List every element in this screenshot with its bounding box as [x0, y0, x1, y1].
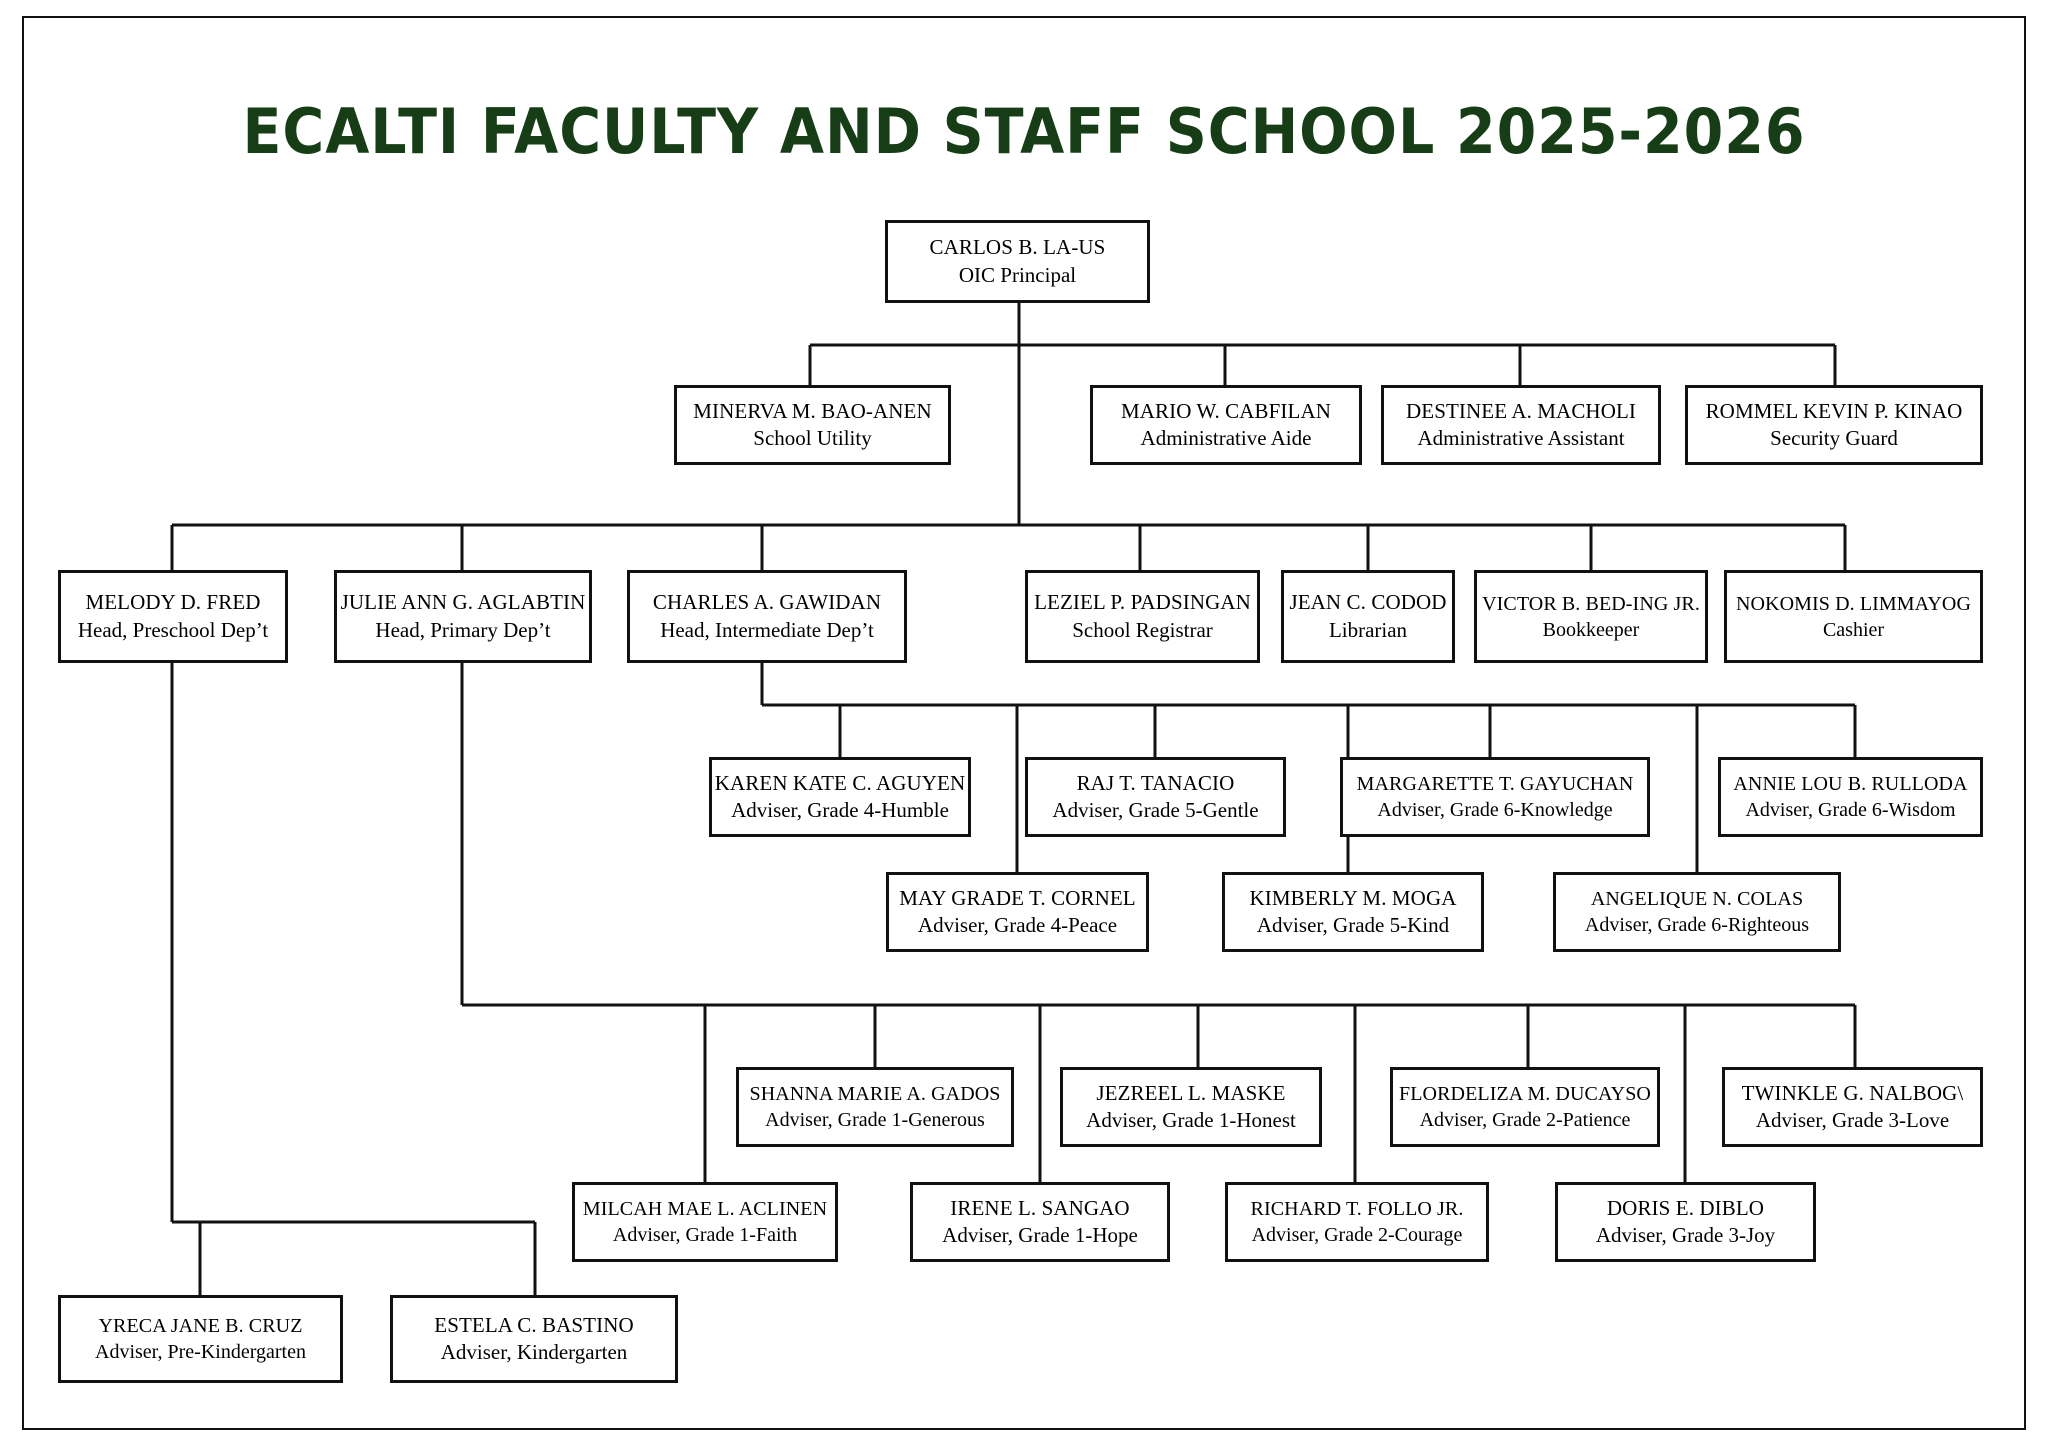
node-name: MARGARETTE T. GAYUCHAN	[1357, 771, 1634, 797]
node-title: Adviser, Grade 6-Wisdom	[1745, 797, 1955, 823]
node-name: VICTOR B. BED-ING JR.	[1482, 591, 1700, 617]
node-title: Adviser, Kindergarten	[441, 1339, 628, 1366]
node-adviser-grade4-humble[interactable]: KAREN KATE C. AGUYEN Adviser, Grade 4-Hu…	[709, 757, 971, 837]
node-title: Adviser, Grade 5-Kind	[1257, 912, 1449, 939]
node-title: OIC Principal	[959, 262, 1076, 289]
node-bookkeeper[interactable]: VICTOR B. BED-ING JR. Bookkeeper	[1474, 570, 1708, 663]
node-adviser-grade2-patience[interactable]: FLORDELIZA M. DUCAYSO Adviser, Grade 2-P…	[1390, 1067, 1660, 1147]
node-name: CARLOS B. LA-US	[930, 234, 1106, 261]
node-name: CHARLES A. GAWIDAN	[653, 589, 881, 616]
node-adviser-grade2-courage[interactable]: RICHARD T. FOLLO JR. Adviser, Grade 2-Co…	[1225, 1182, 1489, 1262]
node-title: Adviser, Grade 6-Righteous	[1585, 912, 1809, 938]
node-title: Bookkeeper	[1543, 617, 1640, 643]
node-security-guard[interactable]: ROMMEL KEVIN P. KINAO Security Guard	[1685, 385, 1983, 465]
node-title: School Utility	[753, 425, 871, 452]
node-adviser-grade1-faith[interactable]: MILCAH MAE L. ACLINEN Adviser, Grade 1-F…	[572, 1182, 838, 1262]
node-adviser-grade5-kind[interactable]: KIMBERLY M. MOGA Adviser, Grade 5-Kind	[1222, 872, 1484, 952]
node-head-intermediate[interactable]: CHARLES A. GAWIDAN Head, Intermediate De…	[627, 570, 907, 663]
node-adviser-grade1-generous[interactable]: SHANNA MARIE A. GADOS Adviser, Grade 1-G…	[736, 1067, 1014, 1147]
node-adviser-kindergarten[interactable]: ESTELA C. BASTINO Adviser, Kindergarten	[390, 1295, 678, 1383]
org-chart-page: ECALTI FACULTY AND STAFF SCHOOL 2025-202…	[0, 0, 2048, 1448]
node-title: Adviser, Pre-Kindergarten	[95, 1339, 306, 1365]
node-title: Adviser, Grade 1-Honest	[1086, 1107, 1296, 1134]
node-name: YRECA JANE B. CRUZ	[98, 1313, 302, 1339]
node-cashier[interactable]: NOKOMIS D. LIMMAYOG Cashier	[1724, 570, 1983, 663]
node-school-utility[interactable]: MINERVA M. BAO-ANEN School Utility	[674, 385, 951, 465]
node-name: JEAN C. CODOD	[1289, 589, 1446, 616]
node-adviser-grade3-joy[interactable]: DORIS E. DIBLO Adviser, Grade 3-Joy	[1555, 1182, 1816, 1262]
node-adviser-grade1-hope[interactable]: IRENE L. SANGAO Adviser, Grade 1-Hope	[910, 1182, 1170, 1262]
node-title: Security Guard	[1770, 425, 1898, 452]
node-name: KIMBERLY M. MOGA	[1250, 885, 1457, 912]
node-name: MELODY D. FRED	[85, 589, 260, 616]
node-name: ESTELA C. BASTINO	[434, 1312, 633, 1339]
node-name: ROMMEL KEVIN P. KINAO	[1706, 398, 1963, 425]
node-school-registrar[interactable]: LEZIEL P. PADSINGAN School Registrar	[1025, 570, 1260, 663]
node-name: MAY GRADE T. CORNEL	[899, 885, 1135, 912]
node-name: DORIS E. DIBLO	[1607, 1195, 1764, 1222]
node-name: MILCAH MAE L. ACLINEN	[583, 1196, 827, 1222]
node-title: Head, Primary Dep’t	[375, 617, 550, 644]
node-name: RICHARD T. FOLLO JR.	[1251, 1196, 1464, 1222]
node-principal[interactable]: CARLOS B. LA-US OIC Principal	[885, 220, 1150, 303]
node-name: MARIO W. CABFILAN	[1121, 398, 1331, 425]
node-name: IRENE L. SANGAO	[950, 1195, 1129, 1222]
node-name: ANNIE LOU B. RULLODA	[1733, 771, 1967, 797]
node-librarian[interactable]: JEAN C. CODOD Librarian	[1281, 570, 1455, 663]
node-name: DESTINEE A. MACHOLI	[1406, 398, 1636, 425]
node-title: School Registrar	[1072, 617, 1213, 644]
node-name: KAREN KATE C. AGUYEN	[715, 770, 966, 797]
node-title: Adviser, Grade 1-Faith	[613, 1222, 797, 1248]
node-name: TWINKLE G. NALBOG\	[1742, 1080, 1964, 1107]
node-name: LEZIEL P. PADSINGAN	[1034, 589, 1251, 616]
node-title: Head, Preschool Dep’t	[78, 617, 268, 644]
node-name: MINERVA M. BAO-ANEN	[693, 398, 931, 425]
node-adviser-grade6-wisdom[interactable]: ANNIE LOU B. RULLODA Adviser, Grade 6-Wi…	[1718, 757, 1983, 837]
node-name: ANGELIQUE N. COLAS	[1591, 886, 1803, 912]
node-title: Adviser, Grade 5-Gentle	[1052, 797, 1258, 824]
node-adviser-pre-kindergarten[interactable]: YRECA JANE B. CRUZ Adviser, Pre-Kinderga…	[58, 1295, 343, 1383]
node-adviser-grade3-love[interactable]: TWINKLE G. NALBOG\ Adviser, Grade 3-Love	[1722, 1067, 1983, 1147]
node-title: Adviser, Grade 2-Patience	[1420, 1107, 1631, 1133]
node-title: Administrative Assistant	[1417, 425, 1624, 452]
node-title: Adviser, Grade 1-Generous	[765, 1107, 985, 1133]
node-administrative-assistant[interactable]: DESTINEE A. MACHOLI Administrative Assis…	[1381, 385, 1661, 465]
node-title: Adviser, Grade 2-Courage	[1252, 1222, 1463, 1248]
node-title: Adviser, Grade 3-Joy	[1596, 1222, 1775, 1249]
node-adviser-grade1-honest[interactable]: JEZREEL L. MASKE Adviser, Grade 1-Honest	[1060, 1067, 1322, 1147]
node-title: Adviser, Grade 4-Peace	[918, 912, 1117, 939]
node-title: Administrative Aide	[1141, 425, 1312, 452]
node-adviser-grade6-righteous[interactable]: ANGELIQUE N. COLAS Adviser, Grade 6-Righ…	[1553, 872, 1841, 952]
node-name: JULIE ANN G. AGLABTIN	[341, 589, 586, 616]
node-name: FLORDELIZA M. DUCAYSO	[1399, 1081, 1651, 1107]
node-title: Adviser, Grade 3-Love	[1756, 1107, 1949, 1134]
node-name: RAJ T. TANACIO	[1077, 770, 1235, 797]
node-adviser-grade4-peace[interactable]: MAY GRADE T. CORNEL Adviser, Grade 4-Pea…	[886, 872, 1149, 952]
node-name: SHANNA MARIE A. GADOS	[749, 1081, 1000, 1107]
node-title: Adviser, Grade 6-Knowledge	[1377, 797, 1612, 823]
node-title: Adviser, Grade 4-Humble	[731, 797, 949, 824]
node-title: Cashier	[1823, 617, 1884, 643]
node-title: Adviser, Grade 1-Hope	[942, 1222, 1138, 1249]
node-name: NOKOMIS D. LIMMAYOG	[1736, 591, 1971, 617]
node-title: Librarian	[1329, 617, 1407, 644]
node-title: Head, Intermediate Dep’t	[660, 617, 874, 644]
node-head-primary[interactable]: JULIE ANN G. AGLABTIN Head, Primary Dep’…	[334, 570, 592, 663]
node-name: JEZREEL L. MASKE	[1096, 1080, 1285, 1107]
node-adviser-grade5-gentle[interactable]: RAJ T. TANACIO Adviser, Grade 5-Gentle	[1025, 757, 1286, 837]
node-adviser-grade6-knowledge[interactable]: MARGARETTE T. GAYUCHAN Adviser, Grade 6-…	[1340, 757, 1650, 837]
node-administrative-aide[interactable]: MARIO W. CABFILAN Administrative Aide	[1090, 385, 1362, 465]
node-head-preschool[interactable]: MELODY D. FRED Head, Preschool Dep’t	[58, 570, 288, 663]
